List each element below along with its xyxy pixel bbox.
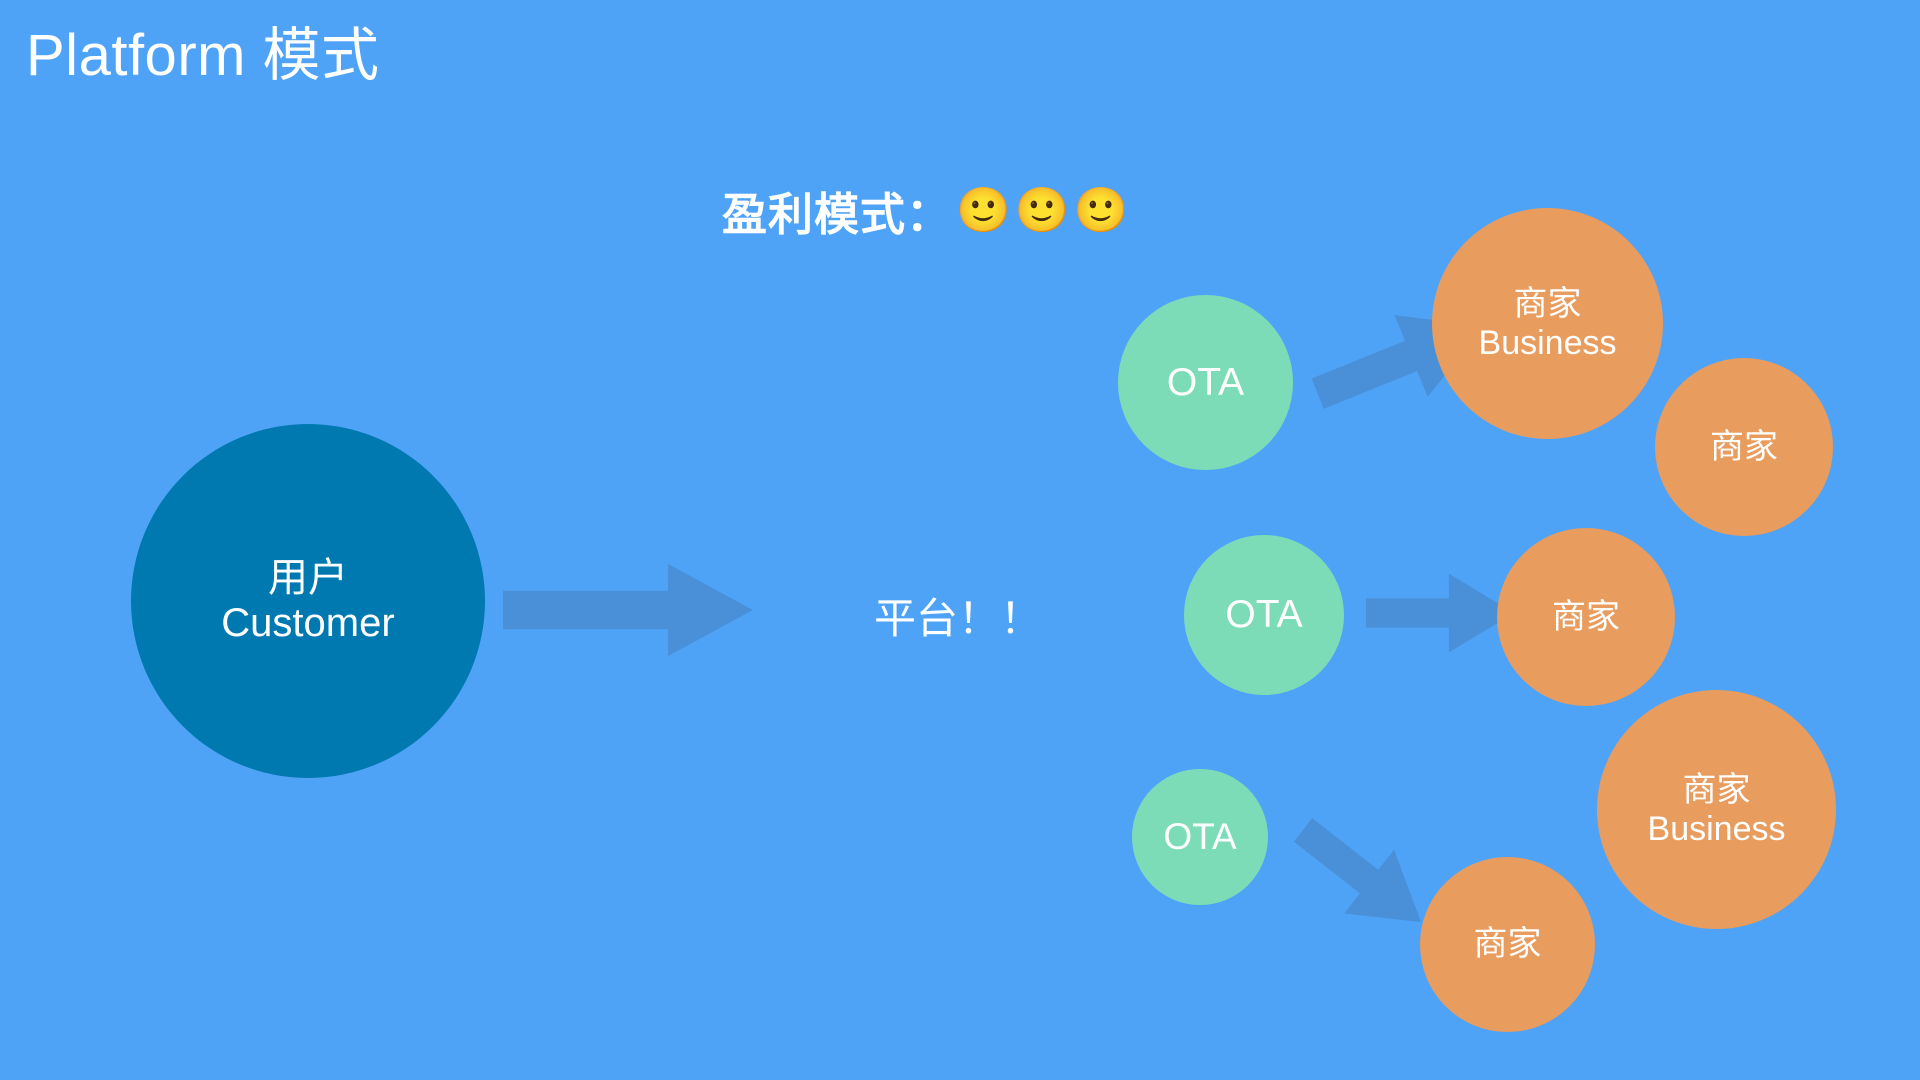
node-customer[interactable]: 用户 Customer — [131, 424, 485, 778]
node-business-top-right[interactable]: 商家 — [1655, 358, 1833, 536]
node-ota-middle-label: OTA — [1225, 593, 1302, 637]
smiling-face-emoji: 🙂 — [1015, 189, 1070, 233]
node-business-bottom-right-en: Business — [1648, 810, 1786, 848]
node-business-bottom-right[interactable]: 商家 Business — [1597, 690, 1836, 929]
node-ota-top[interactable]: OTA — [1118, 295, 1293, 470]
profit-model-caption: 盈利模式： 🙂 🙂 🙂 — [722, 178, 1128, 243]
node-business-top-en: Business — [1479, 324, 1617, 362]
node-business-top-cn: 商家 — [1514, 285, 1582, 323]
node-ota-middle[interactable]: OTA — [1184, 535, 1344, 695]
profit-model-label: 盈利模式： — [722, 178, 952, 243]
node-ota-bottom[interactable]: OTA — [1132, 769, 1268, 905]
smiling-face-emoji: 🙂 — [956, 189, 1011, 233]
node-customer-cn: 用户 — [268, 556, 348, 601]
node-business-top[interactable]: 商家 Business — [1432, 208, 1663, 439]
node-business-middle-cn: 商家 — [1552, 598, 1620, 636]
node-business-bottom-cn: 商家 — [1474, 925, 1542, 963]
page-title: Platform 模式 — [26, 20, 380, 93]
node-business-middle[interactable]: 商家 — [1497, 528, 1675, 706]
slide-canvas: Platform 模式 盈利模式： 🙂 🙂 🙂 用户 Customer 平台！！… — [0, 0, 1920, 1080]
node-ota-bottom-label: OTA — [1163, 816, 1236, 857]
node-customer-en: Customer — [221, 601, 394, 646]
node-ota-top-label: OTA — [1167, 361, 1244, 405]
node-business-top-right-cn: 商家 — [1710, 428, 1778, 466]
smiling-face-emoji: 🙂 — [1074, 189, 1129, 233]
node-platform-label: 平台！！ — [874, 585, 1042, 646]
node-business-bottom[interactable]: 商家 — [1420, 857, 1595, 1032]
node-business-bottom-right-cn: 商家 — [1683, 771, 1751, 809]
